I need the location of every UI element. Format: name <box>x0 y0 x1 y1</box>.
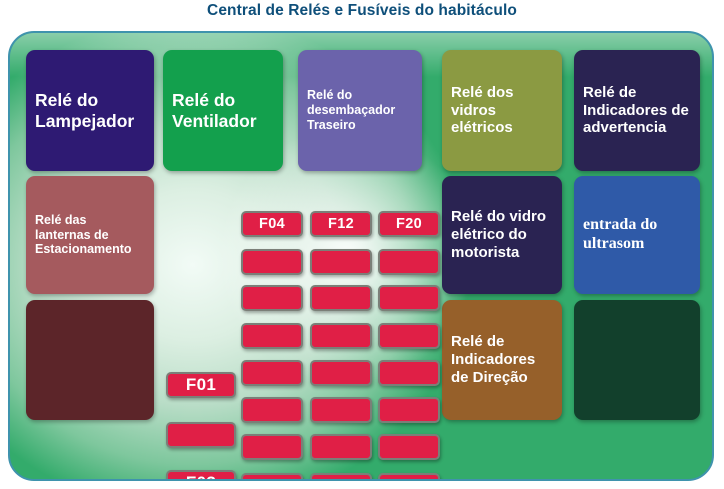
fuse-slot[interactable] <box>166 422 236 448</box>
relay-label: Relé do Ventilador <box>172 90 274 131</box>
page-title: Central de Relés e Fusíveis do habitácul… <box>0 2 724 20</box>
fuse-f12[interactable]: F12 <box>310 211 372 237</box>
fuse-slot[interactable] <box>378 434 440 460</box>
relay-label: Relé do vidro elétrico do motorista <box>451 208 553 261</box>
rele-sem-identificacao-esquerda[interactable] <box>26 300 154 420</box>
entrada-do-ultrasom[interactable]: entrada do ultrasom <box>574 176 700 294</box>
fuse-f19[interactable]: F19 <box>310 473 372 481</box>
rele-dos-vidros-eletricos[interactable]: Relé dos vidros elétricos <box>442 50 562 171</box>
rele-do-desembacador-traseiro[interactable]: Relé do desembaçador Traseiro <box>298 50 422 171</box>
fuse-slot[interactable] <box>310 323 372 349</box>
fuse-f04[interactable]: F04 <box>241 211 303 237</box>
fuse-f27[interactable]: F27 <box>378 473 440 481</box>
rele-do-ventilador[interactable]: Relé do Ventilador <box>163 50 283 171</box>
fuse-slot[interactable] <box>310 397 372 423</box>
fuse-slot[interactable] <box>310 249 372 275</box>
rele-de-indicadores-de-advertencia[interactable]: Relé de Indicadores de advertencia <box>574 50 700 171</box>
rele-do-lampejador[interactable]: Relé do Lampejador <box>26 50 154 171</box>
fuse-slot[interactable] <box>241 285 303 311</box>
fuse-slot[interactable] <box>378 397 440 423</box>
fuse-slot[interactable] <box>378 323 440 349</box>
fuse-slot[interactable] <box>241 323 303 349</box>
fuse-slot[interactable] <box>378 285 440 311</box>
rele-das-lanternas-de-estacionamento[interactable]: Relé das lanternas de Estacionamento <box>26 176 154 294</box>
fuse-slot[interactable] <box>310 434 372 460</box>
rele-de-indicadores-de-direcao[interactable]: Relé de Indicadores de Direção <box>442 300 562 420</box>
fuse-slot[interactable] <box>378 360 440 386</box>
relay-label: Relé das lanternas de Estacionamento <box>35 213 145 257</box>
relay-label: Relé dos vidros elétricos <box>451 84 553 137</box>
fuse-slot[interactable] <box>310 285 372 311</box>
fuse-f20[interactable]: F20 <box>378 211 440 237</box>
relay-label: Relé do Lampejador <box>35 90 145 131</box>
fuse-panel: Relé do LampejadorRelé do VentiladorRelé… <box>8 31 714 481</box>
fuse-slot[interactable] <box>241 360 303 386</box>
rele-sem-identificacao-direita[interactable] <box>574 300 700 420</box>
relay-label: Relé de Indicadores de advertencia <box>583 84 691 137</box>
fuse-f03[interactable]: F03 <box>166 470 236 481</box>
fuse-f01[interactable]: F01 <box>166 372 236 398</box>
relay-label: Relé do desembaçador Traseiro <box>307 88 413 132</box>
fuse-slot[interactable] <box>378 249 440 275</box>
rele-do-vidro-eletrico-do-motorista[interactable]: Relé do vidro elétrico do motorista <box>442 176 562 294</box>
fuse-slot[interactable] <box>241 397 303 423</box>
fuse-box-diagram: Central de Relés e Fusíveis do habitácul… <box>0 0 724 489</box>
fuse-slot[interactable] <box>241 249 303 275</box>
relay-label: Relé de Indicadores de Direção <box>451 333 553 386</box>
fuse-slot[interactable] <box>241 434 303 460</box>
fuse-f11[interactable]: F11 <box>241 473 303 481</box>
relay-label: entrada do ultrasom <box>583 216 691 254</box>
fuse-slot[interactable] <box>310 360 372 386</box>
